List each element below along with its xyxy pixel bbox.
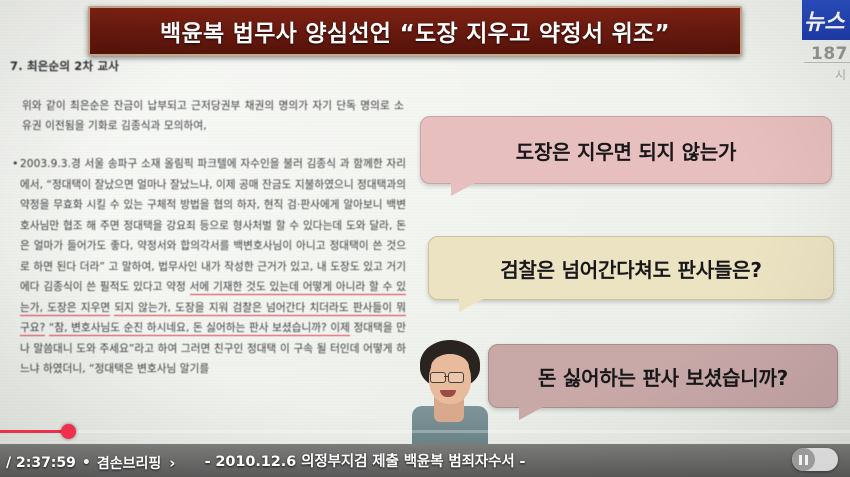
speech-bubble-3: 돈 싫어하는 판사 보셨습니까? [488, 344, 838, 408]
player-meta: / 2:37:59 • 겸손브리핑 › [6, 453, 175, 473]
channel-logo-badge: 뉴스 [802, 0, 850, 40]
document-paragraph: 위와 같이 최은순은 잔금이 납부되고 근저당권부 채권의 명의가 자기 단독 … [22, 96, 404, 136]
document-bullet-block: 2003.9.3.경 서울 송파구 소재 올림픽 파크텔에 자수인을 불러 김종… [20, 154, 406, 380]
progress-scrubber-handle[interactable] [61, 424, 76, 439]
speech-bubble-2-tail [459, 298, 485, 312]
doc-line-underlined: “참, 변호사님도 순진 하시네요, 돈 싫어하는 판사 보셨습니까? 이제 [49, 322, 350, 336]
speech-bubble-2: 검찰은 넘어간다쳐도 판사들은? [428, 236, 834, 300]
doc-line: 2003.9.3.경 서울 송파구 소재 올림픽 파크텔에 자수인을 불러 김종… [20, 158, 336, 170]
speech-bubble-2-text: 검찰은 넘어간다쳐도 판사들은? [500, 254, 762, 283]
chevron-right-icon[interactable]: › [169, 454, 175, 472]
portrait-glasses-bridge [444, 376, 448, 377]
progress-bar-track[interactable] [0, 430, 850, 433]
channel-logo-text: 뉴스 [804, 4, 844, 36]
speech-bubble-3-text: 돈 싫어하는 판사 보셨습니까? [538, 362, 788, 391]
document-heading: 7. 최은순의 2차 교사 [10, 58, 420, 74]
pause-icon [792, 448, 815, 471]
video-player-frame: 7. 최은순의 2차 교사 위와 같이 최은순은 잔금이 납부되고 근저당권부 … [0, 0, 850, 477]
doc-line: 해 주면 정대택을 강요죄 등으로 형사처벌 할 수 있다는데 도와 달라, [86, 220, 392, 232]
pause-button[interactable] [792, 448, 838, 471]
speech-bubble-1: 도장은 지우면 되지 않는가 [420, 116, 832, 184]
viewer-count: 187 [811, 44, 848, 64]
portrait-glasses-left [430, 372, 446, 383]
portrait-glasses-right [448, 372, 464, 383]
meta-separator: • [82, 455, 91, 471]
speech-bubble-3-tail [519, 406, 545, 420]
progress-bar-fill [0, 430, 68, 433]
video-duration: / 2:37:59 [6, 455, 76, 471]
speech-bubble-1-tail [451, 182, 477, 196]
channel-name[interactable]: 겸손브리핑 [97, 453, 161, 473]
speech-bubble-1-text: 도장은 지우면 되지 않는가 [516, 136, 737, 165]
logo-subtext: 시 [835, 66, 846, 83]
headline-text: 백윤복 법무사 양심선언 “도장 지우고 약정서 위조” [160, 14, 670, 48]
person-portrait [404, 332, 496, 444]
headline-banner: 백윤복 법무사 양심선언 “도장 지우고 약정서 위조” [88, 6, 742, 56]
document-body: 7. 최은순의 2차 교사 위와 같이 최은순은 잔금이 납부되고 근저당권부 … [0, 58, 420, 380]
